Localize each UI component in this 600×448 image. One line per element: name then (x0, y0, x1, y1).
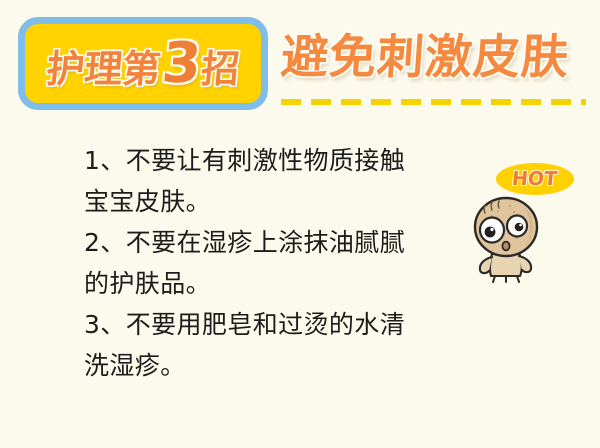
tip-line: 1、不要让有刺激性物质接触 (84, 140, 414, 181)
tip-line: 2、不要在湿疹上涂抹油腻腻 (84, 222, 414, 263)
tip-line: 宝宝皮肤。 (84, 181, 414, 222)
headline-title: 避免刺激皮肤 (279, 33, 595, 84)
tip-line: 洗湿疹。 (84, 345, 414, 386)
headline-wrap: 避免刺激皮肤 (281, 33, 593, 84)
header-section: 护理第 3 招 避免刺激皮肤 (0, 0, 600, 125)
baby-character-icon (462, 192, 554, 284)
infographic-card: 护理第 3 招 避免刺激皮肤 1、不要让有刺激性物质接触 宝宝皮肤。 2、不要在… (0, 0, 600, 448)
tip-line: 3、不要用肥皂和过烫的水清 (84, 304, 414, 345)
tip-line: 的护肤品。 (84, 263, 414, 304)
mascot-illustration: HOT (462, 160, 587, 285)
hot-badge: HOT (496, 163, 574, 195)
step-badge-suffix: 招 (199, 50, 240, 88)
tips-list: 1、不要让有刺激性物质接触 宝宝皮肤。 2、不要在湿疹上涂抹油腻腻 的护肤品。 … (84, 140, 414, 386)
headline-dashed-underline (281, 99, 586, 105)
step-badge-prefix: 护理第 (44, 50, 161, 88)
step-badge: 护理第 3 招 (18, 17, 268, 110)
step-badge-inner: 护理第 3 招 (44, 36, 242, 92)
step-badge-number: 3 (158, 36, 204, 92)
hot-badge-label: HOT (511, 168, 558, 190)
